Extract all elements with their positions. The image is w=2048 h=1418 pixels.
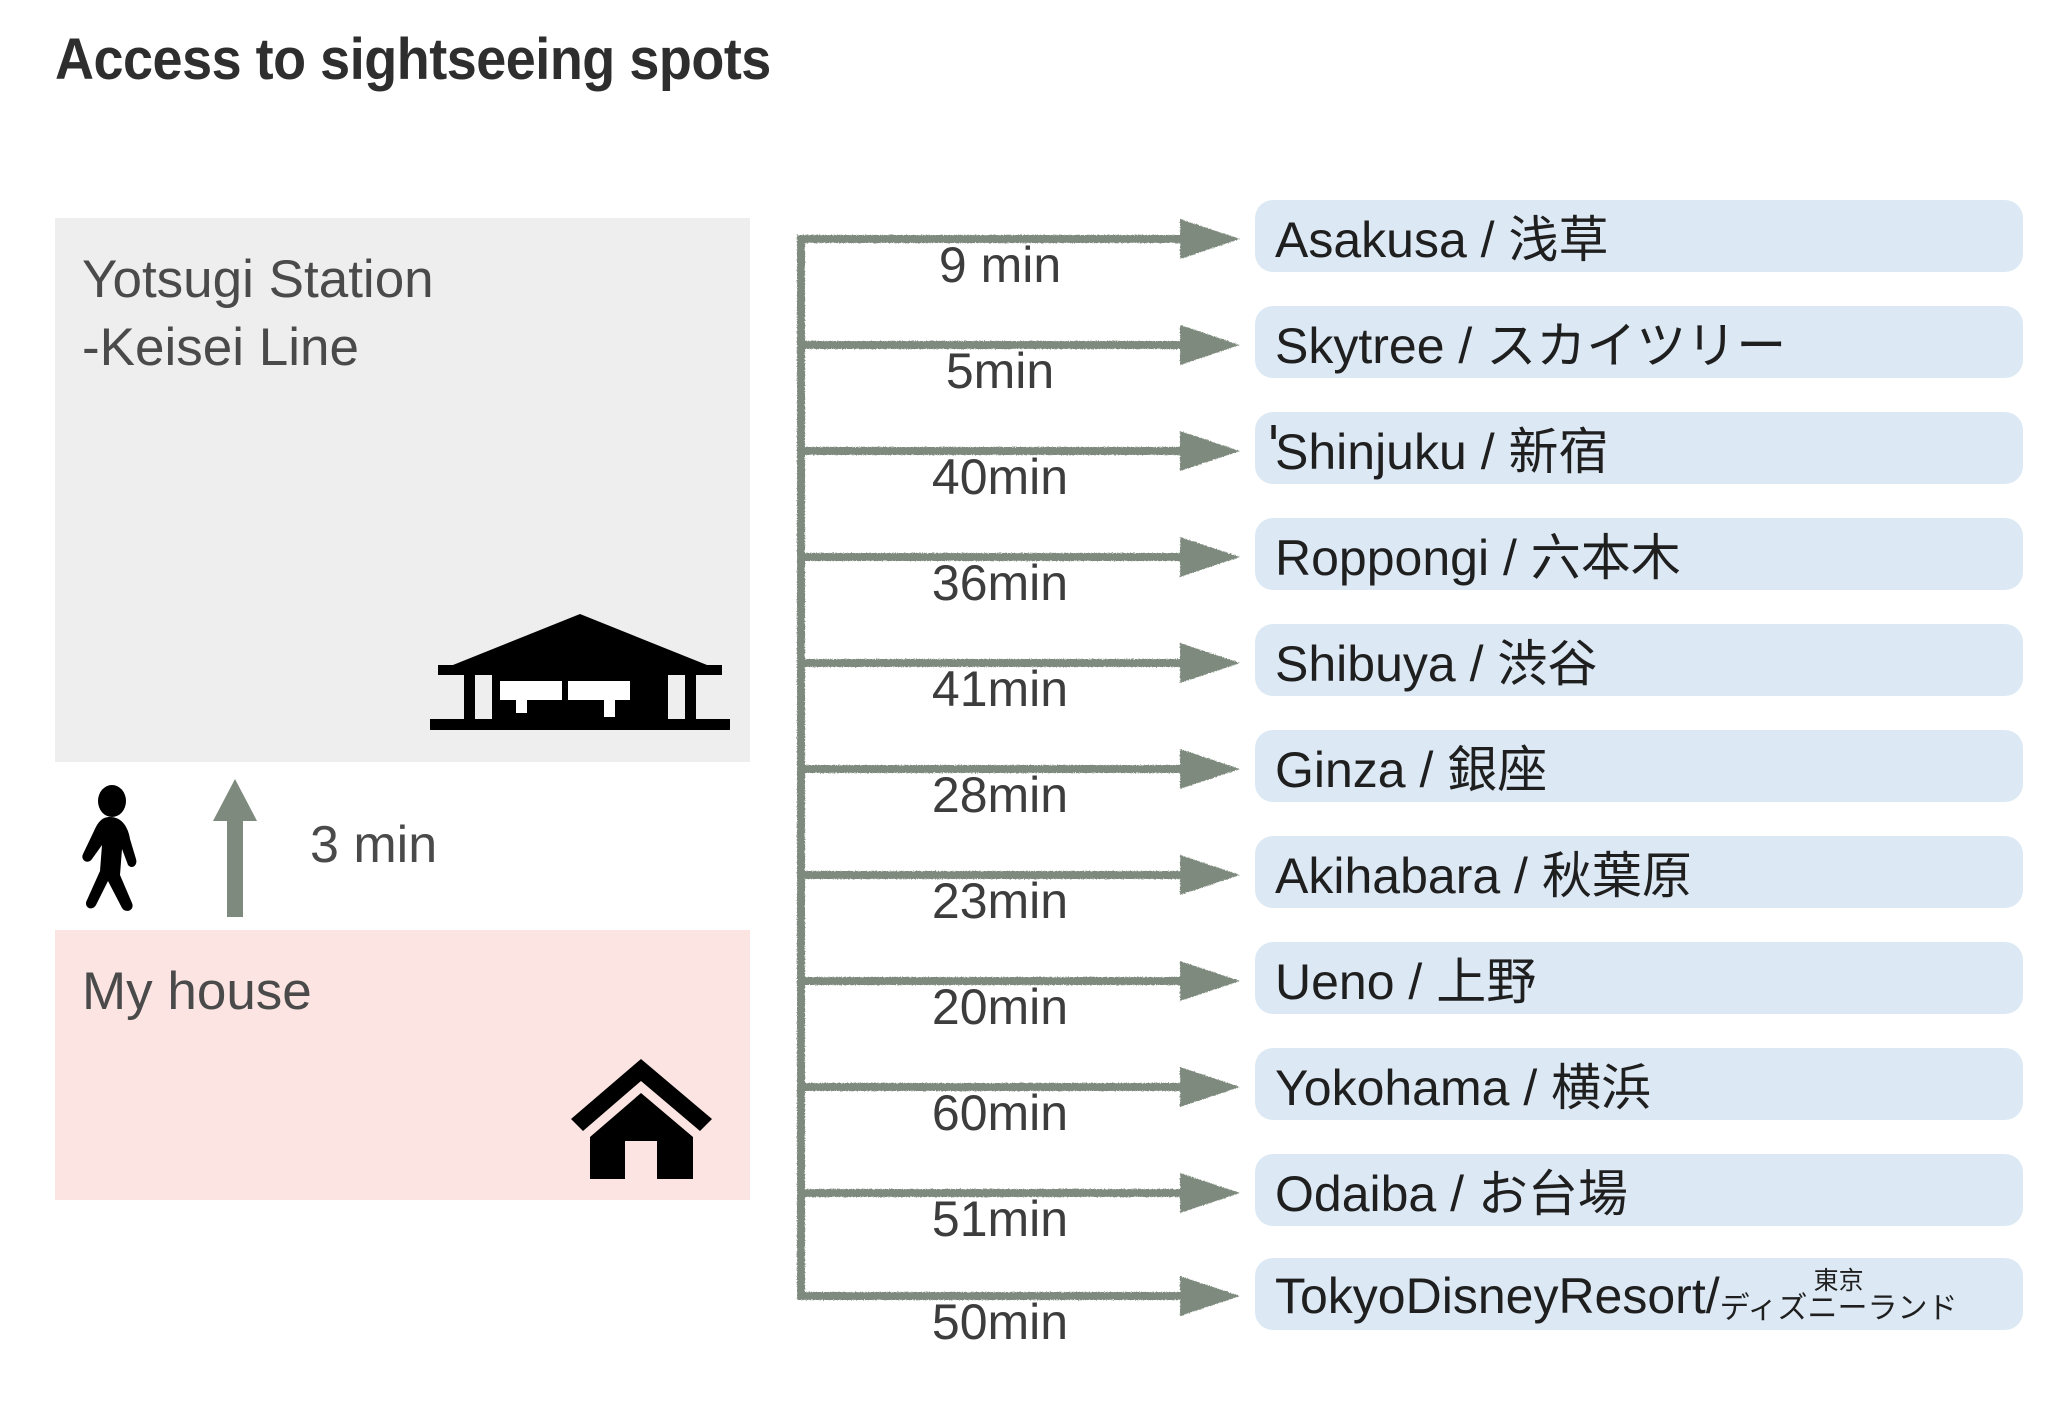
route-time-9: 51min — [932, 1190, 1068, 1248]
destination-label: Akihabara / 秋葉原 — [1275, 836, 1692, 908]
page-title: Access to sightseeing spots — [55, 26, 771, 93]
up-arrow-icon — [205, 775, 265, 920]
route-time-4: 41min — [932, 660, 1068, 718]
destination-pill-asakusa[interactable]: Asakusa / 浅草 — [1255, 200, 2023, 272]
walk-segment: 3 min — [55, 775, 755, 920]
destination-label: Skytree / スカイツリー — [1275, 306, 1786, 378]
destination-pill-yokohama[interactable]: Yokohama / 横浜 — [1255, 1048, 2023, 1120]
route-time-3: 36min — [932, 554, 1068, 612]
destination-pill-tokyodisneyresort[interactable]: TokyoDisneyResort / 東京ディズニーランド — [1255, 1258, 2023, 1330]
route-time-8: 60min — [932, 1084, 1068, 1142]
slide-canvas: Access to sightseeing spots Yotsugi Stat… — [0, 0, 2048, 1418]
walking-person-icon — [70, 783, 156, 913]
destination-label-jp-stack: 東京ディズニーランド — [1720, 1269, 1958, 1324]
route-time-6: 23min — [932, 872, 1068, 930]
destination-label: Asakusa / 浅草 — [1275, 200, 1608, 272]
train-station-icon — [430, 609, 730, 734]
destination-pill-ginza[interactable]: Ginza / 銀座 — [1255, 730, 2023, 802]
destination-label: Ginza / 銀座 — [1275, 730, 1547, 802]
destination-label: Roppongi / 六本木 — [1275, 518, 1681, 590]
destination-pill-skytree[interactable]: Skytree / スカイツリー — [1255, 306, 2023, 378]
origin-station-panel: Yotsugi Station -Keisei Line — [55, 218, 750, 762]
destination-label: Odaiba / お台場 — [1275, 1154, 1628, 1226]
destination-pill-odaiba[interactable]: Odaiba / お台場 — [1255, 1154, 2023, 1226]
home-icon — [569, 1057, 714, 1182]
route-time-5: 28min — [932, 766, 1068, 824]
origin-house-panel: My house — [55, 930, 750, 1200]
destination-pill-shinjuku[interactable]: Shinjuku / 新宿 — [1255, 412, 2023, 484]
destination-label: Ueno / 上野 — [1275, 942, 1536, 1014]
destination-label: Shibuya / 渋谷 — [1275, 624, 1597, 696]
destination-pill-shibuya[interactable]: Shibuya / 渋谷 — [1255, 624, 2023, 696]
route-time-1: 5min — [946, 342, 1054, 400]
route-time-0: 9 min — [939, 236, 1061, 294]
destination-pill-roppongi[interactable]: Roppongi / 六本木 — [1255, 518, 2023, 590]
destination-label: Shinjuku / 新宿 — [1275, 412, 1608, 484]
text-overflow-artifact: j — [1268, 425, 1284, 439]
route-time-7: 20min — [932, 978, 1068, 1036]
destination-label: TokyoDisneyResort / 東京ディズニーランド — [1275, 1263, 1958, 1325]
destination-pill-ueno[interactable]: Ueno / 上野 — [1255, 942, 2023, 1014]
destination-pill-akihabara[interactable]: Akihabara / 秋葉原 — [1255, 836, 2023, 908]
walk-time-label: 3 min — [310, 815, 437, 875]
house-label: My house — [82, 958, 312, 1026]
station-label: Yotsugi Station -Keisei Line — [82, 246, 434, 382]
route-branch-diagram: 9 min 5min 40min 36min 41min 28min 23min… — [780, 190, 1260, 1340]
route-time-2: 40min — [932, 448, 1068, 506]
destination-label: Yokohama / 横浜 — [1275, 1048, 1651, 1120]
route-time-10: 50min — [932, 1293, 1068, 1351]
